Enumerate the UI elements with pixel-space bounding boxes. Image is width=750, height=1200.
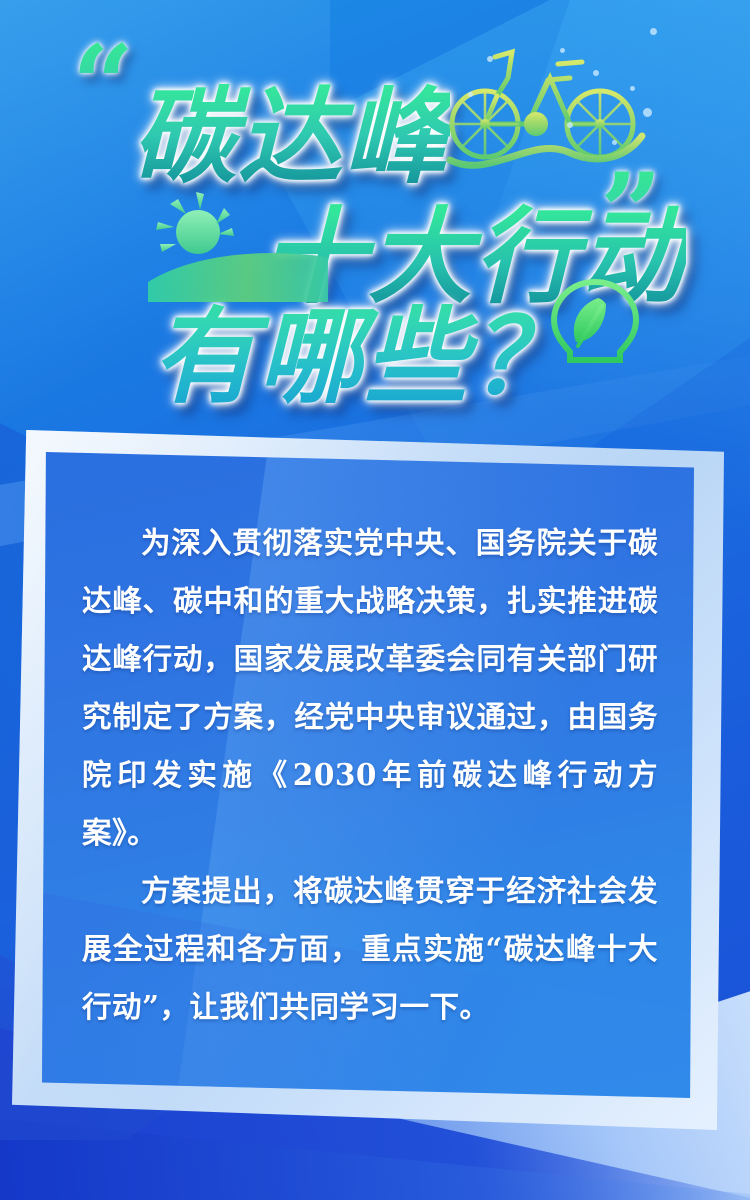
open-quote-mark: “ xyxy=(72,22,134,148)
content-card: 为深入贯彻落实党中央、国务院关于碳达峰、碳中和的重大战略决策，扎实推进碳达峰行动… xyxy=(12,430,724,1130)
decor-dot xyxy=(612,140,617,145)
sun-hill-icon xyxy=(148,182,328,302)
poster-root: “ ” 碳达峰 十大行动 有哪些？ xyxy=(0,0,750,1200)
headline-block: “ ” 碳达峰 十大行动 有哪些？ xyxy=(0,0,750,420)
decor-dot xyxy=(643,108,652,117)
body-paragraph-1: 为深入贯彻落实党中央、国务院关于碳达峰、碳中和的重大战略决策，扎实推进碳达峰行动… xyxy=(82,514,658,862)
decor-dot xyxy=(593,70,599,76)
card-body: 为深入贯彻落实党中央、国务院关于碳达峰、碳中和的重大战略决策，扎实推进碳达峰行动… xyxy=(42,452,694,1098)
card-text-block: 为深入贯彻落实党中央、国务院关于碳达峰、碳中和的重大战略决策，扎实推进碳达峰行动… xyxy=(42,452,694,1036)
decor-dot xyxy=(650,28,657,35)
body-paragraph-2: 方案提出，将碳达峰贯穿于经济社会发展全过程和各方面，重点实施“碳达峰十大行动”，… xyxy=(82,862,658,1036)
lightbulb-leaf-icon xyxy=(540,272,650,392)
bicycle-icon xyxy=(440,32,660,182)
decor-dot xyxy=(487,56,493,62)
decor-dot xyxy=(630,86,635,91)
decor-dot xyxy=(567,122,573,128)
decor-dot xyxy=(560,48,565,53)
decor-dot xyxy=(468,92,473,97)
